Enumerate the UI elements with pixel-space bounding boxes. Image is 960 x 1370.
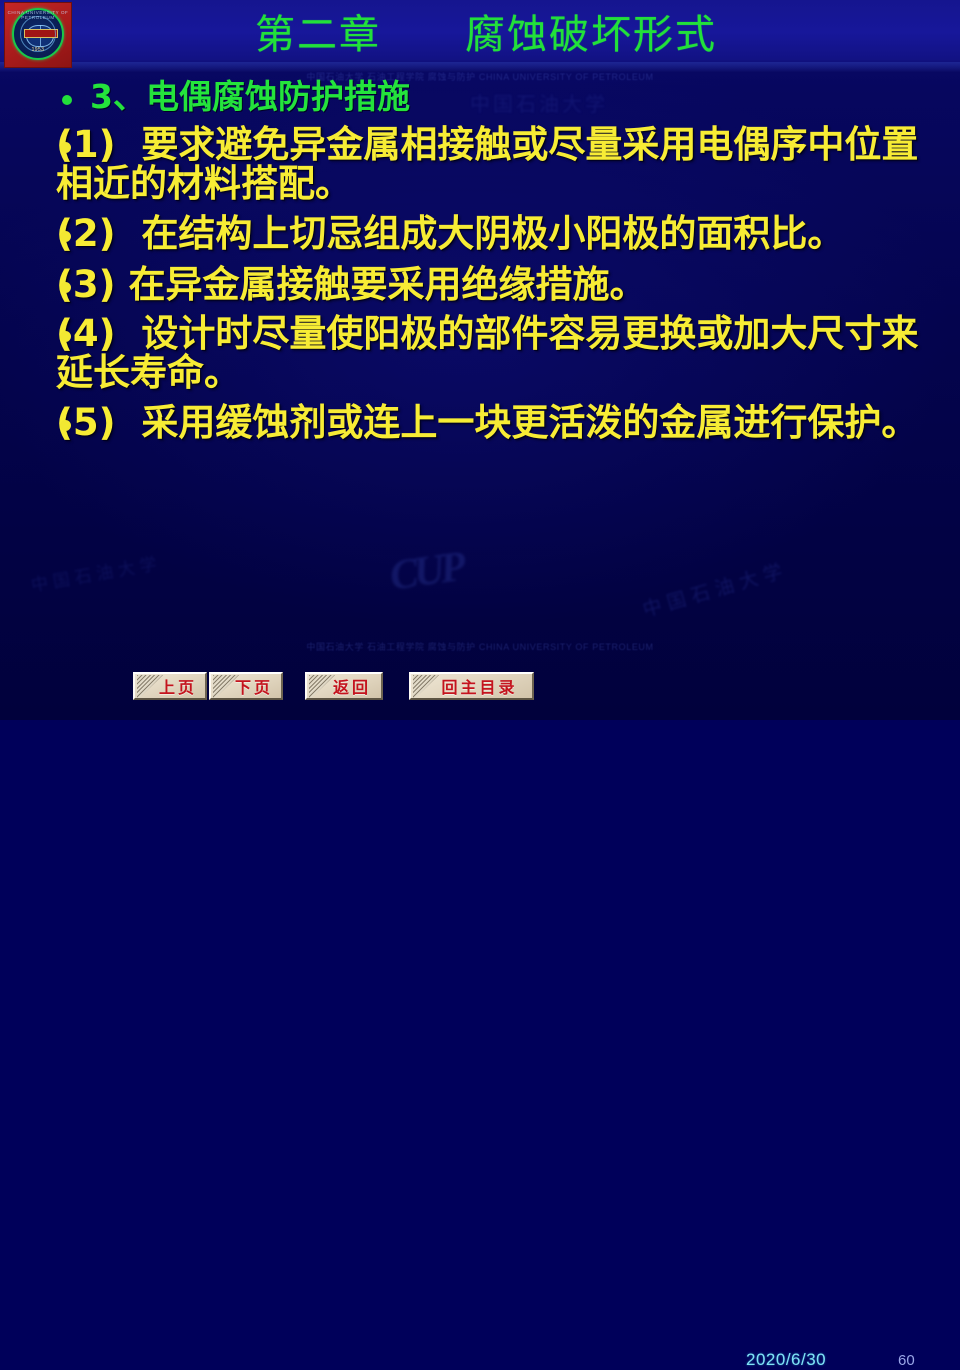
main-menu-label: 回主目录 bbox=[425, 674, 517, 698]
next-page-button[interactable]: 下页 bbox=[209, 672, 283, 700]
list-item-label: (3) 在异金属接触要采用绝缘措施。 bbox=[56, 265, 934, 304]
seal-name-band bbox=[24, 29, 58, 38]
next-page-label: 下页 bbox=[219, 674, 273, 698]
bullet-marker bbox=[60, 331, 71, 342]
slide-body: 3、电偶腐蚀防护措施 (1) 要求避免异金属相接触或尽量采用电偶序中位置相近的材… bbox=[0, 74, 960, 630]
list-item: 3、电偶腐蚀防护措施 bbox=[0, 80, 960, 115]
bullet-marker bbox=[60, 282, 71, 293]
slide-date: 2020/6/30 bbox=[746, 1350, 826, 1370]
prev-page-button[interactable]: 上页 bbox=[133, 672, 207, 700]
list-item: (1) 要求避免异金属相接触或尽量采用电偶序中位置相近的材料搭配。 bbox=[0, 125, 960, 203]
globe-icon bbox=[26, 25, 54, 47]
logo-ring-text: CHINA UNIVERSITY OF PETROLEUM bbox=[5, 10, 71, 20]
list-item-label: (5) 采用缓蚀剂或连上一块更活泼的金属进行保护。 bbox=[56, 403, 934, 442]
slide-header: CHINA UNIVERSITY OF PETROLEUM 1953 第二章 腐… bbox=[0, 0, 960, 72]
list-item-label: (2) 在结构上切忌组成大阴极小阳极的面积比。 bbox=[56, 214, 934, 253]
list-item-label: (1) 要求避免异金属相接触或尽量采用电偶序中位置相近的材料搭配。 bbox=[56, 125, 934, 203]
slide-page-number: 60 bbox=[898, 1352, 915, 1369]
slide-footer: 上页 下页 返回 回主目录 2020/6/30 60 bbox=[0, 662, 960, 720]
presentation-slide: 中国石油大学 石油工程学院 腐蚀与防护 CHINA UNIVERSITY OF … bbox=[0, 0, 960, 720]
prev-page-label: 上页 bbox=[143, 674, 197, 698]
list-item: (3) 在异金属接触要采用绝缘措施。 bbox=[0, 265, 960, 304]
university-logo: CHINA UNIVERSITY OF PETROLEUM 1953 bbox=[4, 2, 72, 68]
watermark-band-bottom: 中国石油大学 石油工程学院 腐蚀与防护 CHINA UNIVERSITY OF … bbox=[0, 640, 960, 653]
list-item-label: (4) 设计时尽量使阳极的部件容易更换或加大尺寸来延长寿命。 bbox=[56, 314, 934, 392]
page-title: 第二章 腐蚀破坏形式 bbox=[255, 4, 915, 66]
back-label: 返回 bbox=[317, 674, 371, 698]
list-item: (5) 采用缓蚀剂或连上一块更活泼的金属进行保护。 bbox=[0, 403, 960, 442]
list-item-label: 3、电偶腐蚀防护措施 bbox=[90, 80, 934, 115]
list-item: (4) 设计时尽量使阳极的部件容易更换或加大尺寸来延长寿命。 bbox=[0, 314, 960, 392]
logo-year: 1953 bbox=[5, 47, 71, 53]
list-item: (2) 在结构上切忌组成大阴极小阳极的面积比。 bbox=[0, 214, 960, 253]
back-button[interactable]: 返回 bbox=[305, 672, 383, 700]
main-menu-button[interactable]: 回主目录 bbox=[409, 672, 534, 700]
bullet-marker bbox=[62, 95, 72, 105]
bullet-marker bbox=[60, 142, 71, 153]
